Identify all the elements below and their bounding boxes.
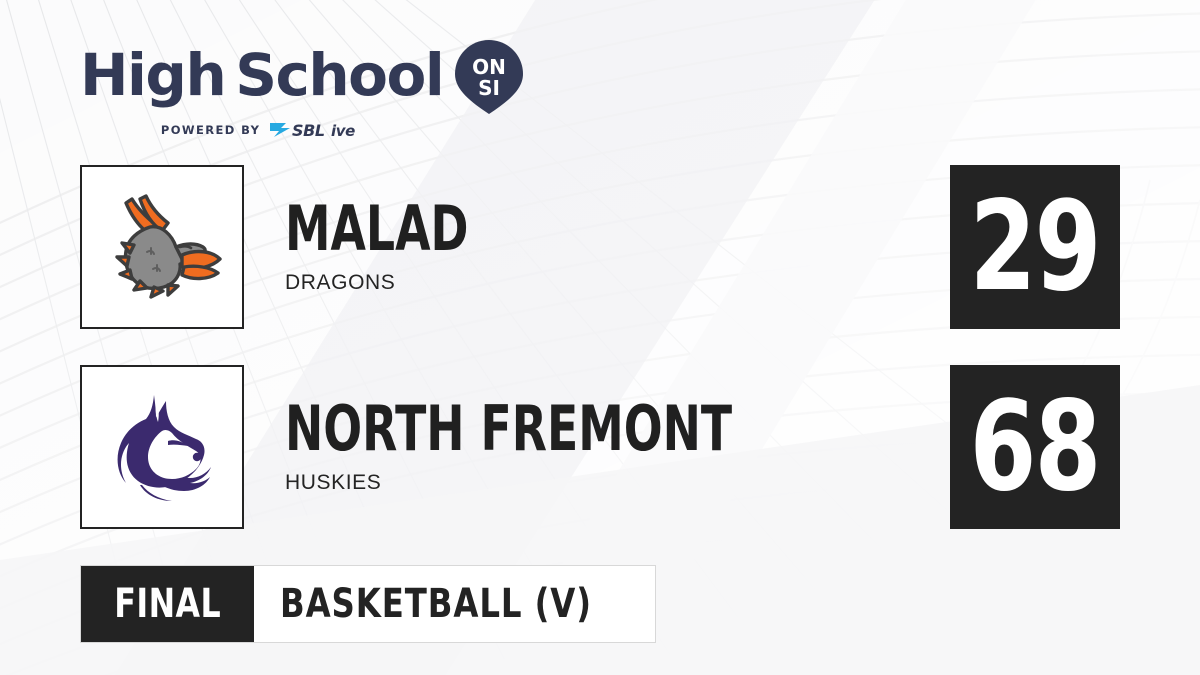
team-score-box: 29 xyxy=(950,165,1120,329)
team-logo-box xyxy=(80,165,244,329)
svg-text:SI: SI xyxy=(478,76,500,100)
team-mascot: HUSKIES xyxy=(285,471,830,495)
brand-lockup: High School ON SI POWERED BY SBL ive xyxy=(80,36,525,140)
team-score-box: 68 xyxy=(950,365,1120,529)
team-name: NORTH FREMONT xyxy=(285,399,732,460)
husky-head-logo-icon xyxy=(96,381,228,513)
brand-title: High School ON SI xyxy=(80,36,525,114)
team-row: NORTH FREMONT HUSKIES 68 xyxy=(80,365,1120,533)
team-name: MALAD xyxy=(285,199,468,260)
team-text-block: NORTH FREMONT HUSKIES xyxy=(285,365,830,529)
team-mascot: DRAGONS xyxy=(285,271,509,295)
sport-label: BASKETBALL (V) xyxy=(280,581,592,627)
dragon-head-logo-icon xyxy=(96,181,228,313)
game-state-badge: FINAL xyxy=(81,566,254,642)
scoreboard-graphic: High School ON SI POWERED BY SBL ive xyxy=(0,0,1200,675)
game-state-label: FINAL xyxy=(114,581,221,627)
svg-text:ive: ive xyxy=(331,122,355,140)
status-bar: FINAL BASKETBALL (V) xyxy=(80,565,656,643)
sblive-logo-icon: SBL ive xyxy=(268,120,372,140)
team-score: 68 xyxy=(970,385,1100,509)
sport-label-panel: BASKETBALL (V) xyxy=(254,566,655,642)
svg-text:SBL: SBL xyxy=(292,121,325,140)
brand-title-word-high: High xyxy=(80,46,225,104)
on-si-pin-icon: ON SI xyxy=(453,38,525,116)
powered-by-label: POWERED BY xyxy=(161,123,260,137)
team-text-block: MALAD DRAGONS xyxy=(285,165,509,329)
brand-title-word-school: School xyxy=(235,46,443,104)
team-logo-box xyxy=(80,365,244,529)
team-row: MALAD DRAGONS 29 xyxy=(80,165,1120,333)
powered-by-lockup: POWERED BY SBL ive xyxy=(80,120,525,140)
team-score: 29 xyxy=(970,185,1100,309)
